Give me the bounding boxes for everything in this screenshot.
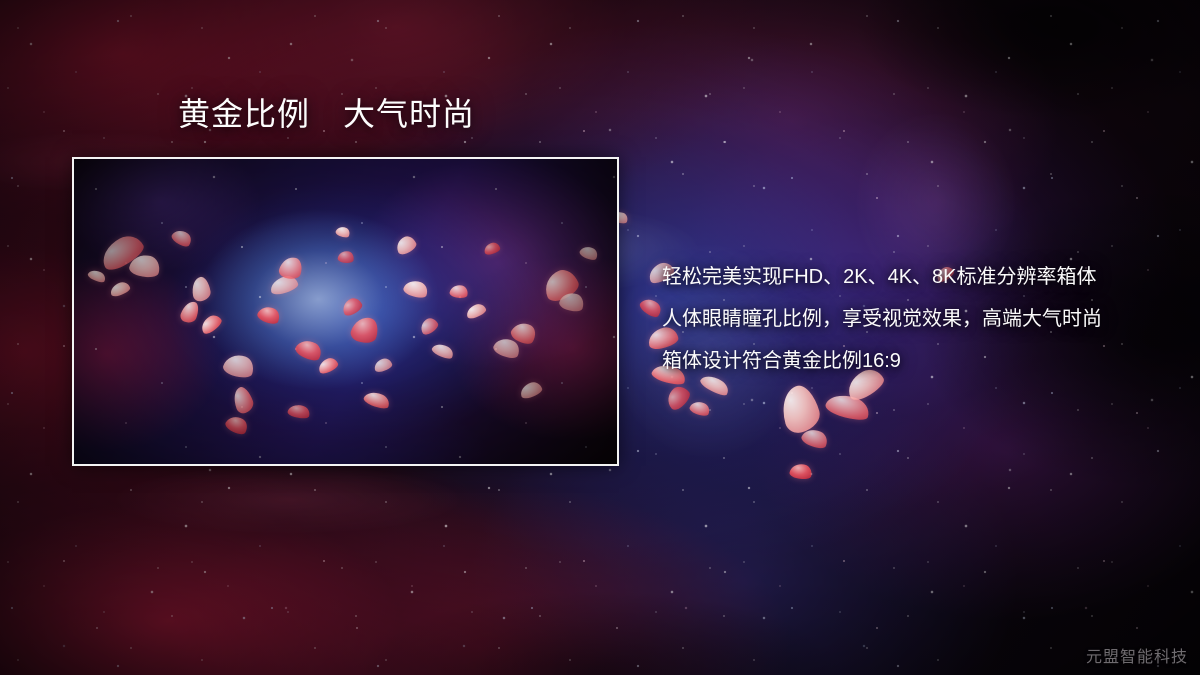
body-line-3: 箱体设计符合黄金比例16:9 [662,340,1182,382]
picture-frame [72,157,619,466]
page-title: 黄金比例 大气时尚 [178,98,475,130]
petal [688,399,711,419]
petal [789,462,814,481]
petal [638,295,665,320]
body-line-1: 轻松完美实现FHD、2K、4K、8K标准分辨率箱体 [662,256,1182,298]
picture-vignette [74,159,617,464]
body-line-2: 人体眼睛瞳孔比例，享受视觉效果，高端大气时尚 [662,298,1182,340]
slide-canvas: 黄金比例 大气时尚 轻松完美实现FHD、2K、4K、8K标准分辨率箱体 人体眼睛… [0,0,1200,675]
body-text-block: 轻松完美实现FHD、2K、4K、8K标准分辨率箱体 人体眼睛瞳孔比例，享受视觉效… [662,256,1182,382]
watermark: 元盟智能科技 [1086,643,1188,667]
petal [776,382,823,436]
